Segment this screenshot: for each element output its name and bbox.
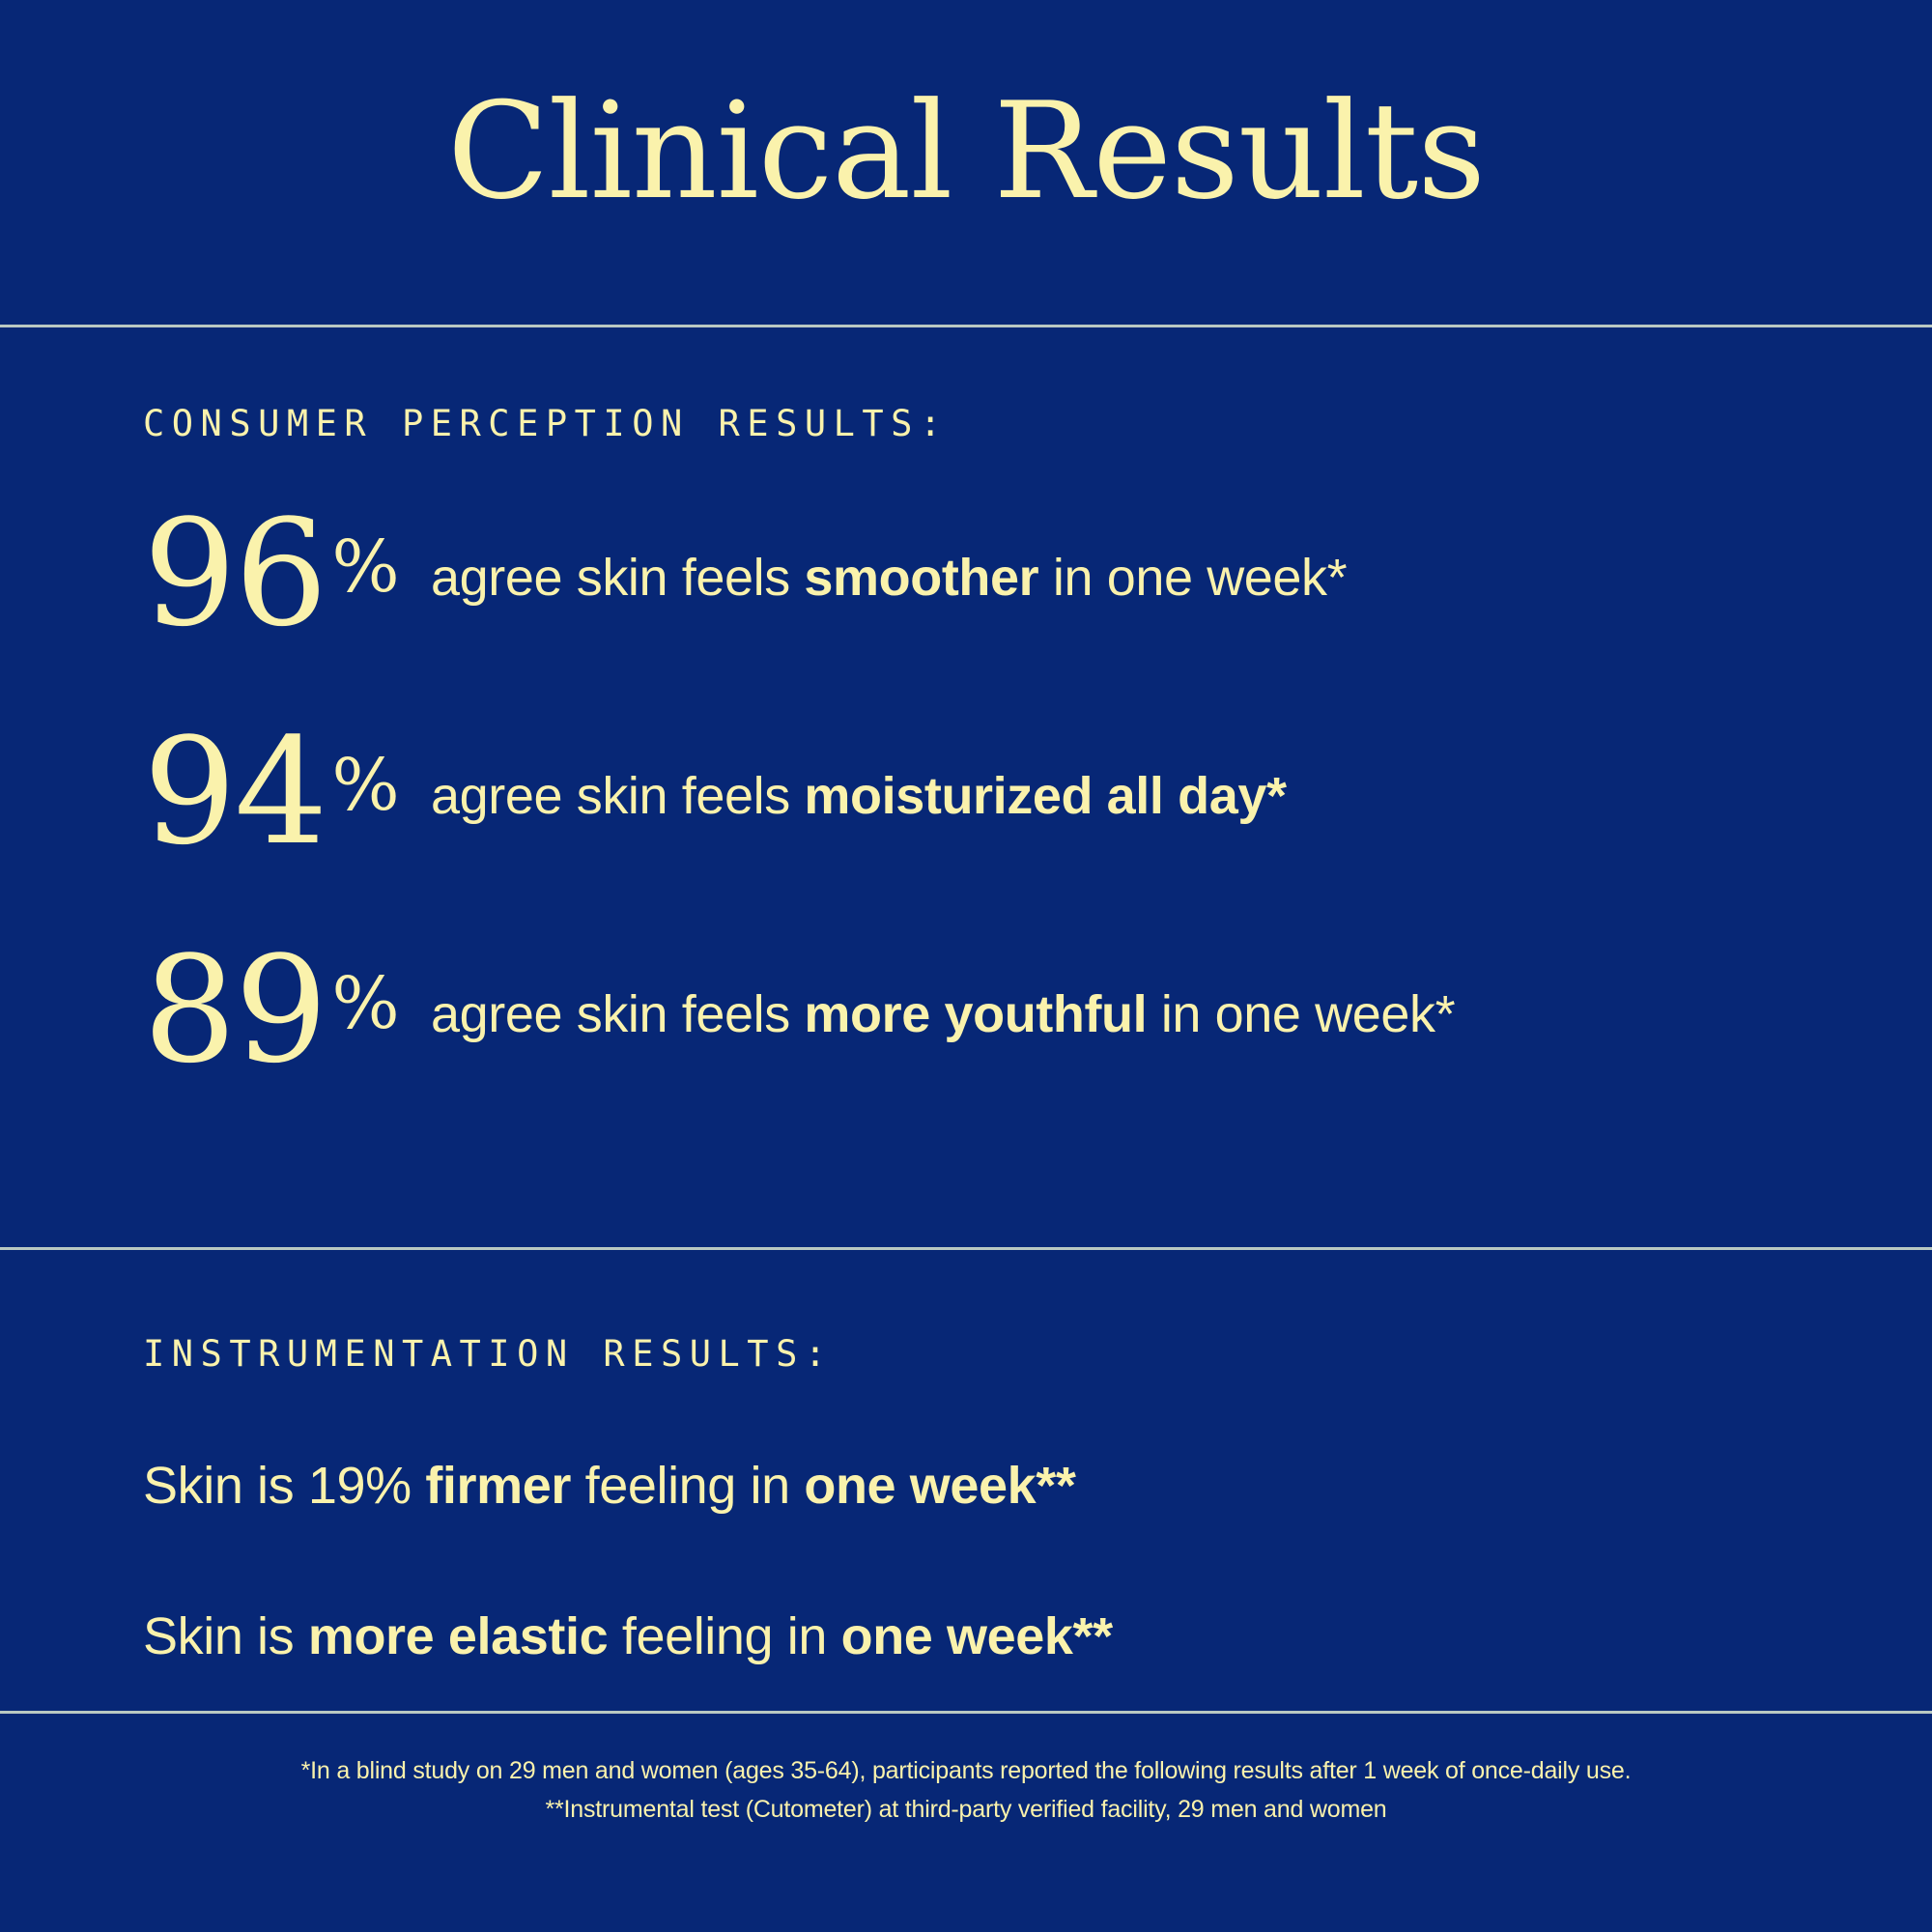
- footnote-line-1: *In a blind study on 29 men and women (a…: [301, 1751, 1632, 1791]
- stat-figure: 89 %: [143, 937, 431, 1084]
- consumer-section-label: CONSUMER PERCEPTION RESULTS:: [143, 327, 1932, 444]
- percent-symbol: %: [331, 750, 399, 821]
- consumer-stat-list: 96 % agree skin feels smoother in one we…: [143, 500, 1932, 1155]
- instr-emphasis2: one week**: [841, 1607, 1113, 1665]
- stat-row: 96 % agree skin feels smoother in one we…: [143, 500, 1932, 719]
- stat-text-after: in one week*: [1147, 985, 1455, 1043]
- instr-emphasis1: firmer: [425, 1457, 571, 1515]
- page-title: Clinical Results: [447, 85, 1485, 240]
- consumer-perception-section: CONSUMER PERCEPTION RESULTS: 96 % agree …: [0, 327, 1932, 1247]
- divider-middle: [0, 1247, 1932, 1250]
- instr-part1: Skin is 19%: [143, 1457, 425, 1515]
- stat-number: 96: [143, 500, 326, 647]
- stat-text: agree skin feels more youthful in one we…: [431, 986, 1455, 1043]
- stat-text-before: agree skin feels: [431, 767, 804, 825]
- instr-part1: Skin is: [143, 1607, 308, 1665]
- stat-text-emphasis: more youthful: [804, 985, 1147, 1043]
- stat-text-before: agree skin feels: [431, 985, 804, 1043]
- stat-text-emphasis: moisturized all day*: [804, 767, 1286, 825]
- divider-bottom: [0, 1711, 1932, 1714]
- stat-text-emphasis: smoother: [804, 549, 1038, 607]
- stat-text: agree skin feels smoother in one week*: [431, 550, 1347, 607]
- percent-symbol: %: [331, 968, 399, 1039]
- instrumentation-line: Skin is more elastic feeling in one week…: [143, 1608, 1932, 1665]
- stat-text-before: agree skin feels: [431, 549, 804, 607]
- stat-figure: 94 %: [143, 719, 431, 866]
- instrumentation-section-label: INSTRUMENTATION RESULTS:: [143, 1250, 1932, 1375]
- instrumentation-section: INSTRUMENTATION RESULTS: Skin is 19% fir…: [0, 1250, 1932, 1711]
- stat-figure: 96 %: [143, 500, 431, 647]
- instr-part2: feeling in: [571, 1457, 804, 1515]
- title-band: Clinical Results: [0, 0, 1932, 325]
- footnotes: *In a blind study on 29 men and women (a…: [0, 1714, 1932, 1932]
- stat-row: 89 % agree skin feels more youthful in o…: [143, 937, 1932, 1155]
- instr-emphasis1: more elastic: [308, 1607, 608, 1665]
- stat-text: agree skin feels moisturized all day*: [431, 768, 1287, 825]
- stat-number: 89: [143, 937, 326, 1084]
- instr-part2: feeling in: [608, 1607, 840, 1665]
- percent-symbol: %: [331, 531, 399, 603]
- stat-row: 94 % agree skin feels moisturized all da…: [143, 719, 1932, 937]
- footnote-line-2: **Instrumental test (Cutometer) at third…: [545, 1790, 1386, 1830]
- stat-number: 94: [143, 719, 326, 866]
- instrumentation-line-list: Skin is 19% firmer feeling in one week**…: [143, 1458, 1932, 1666]
- instrumentation-line: Skin is 19% firmer feeling in one week**: [143, 1458, 1932, 1515]
- stat-text-after: in one week*: [1038, 549, 1347, 607]
- instr-emphasis2: one week**: [804, 1457, 1075, 1515]
- clinical-results-card: Clinical Results CONSUMER PERCEPTION RES…: [0, 0, 1932, 1932]
